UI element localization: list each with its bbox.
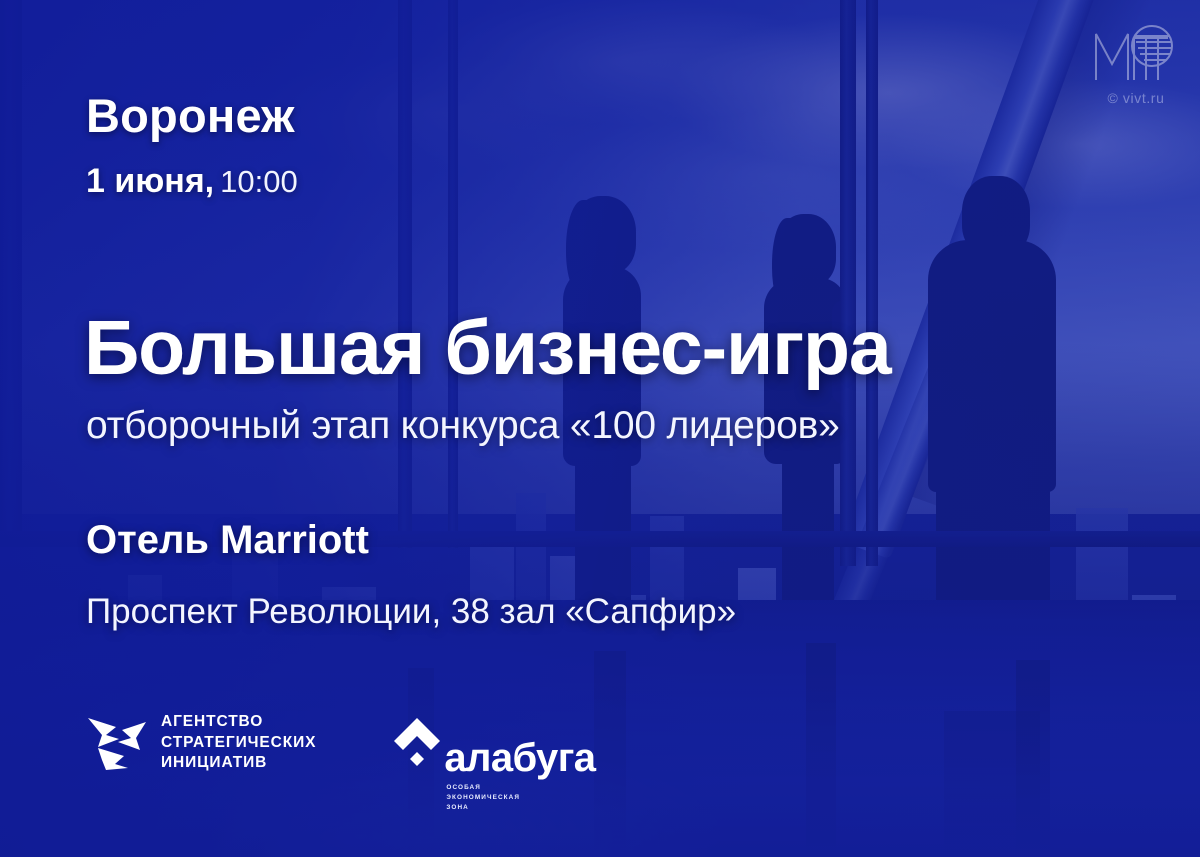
asi-line-1: АГЕНТСТВО bbox=[161, 712, 316, 733]
alabuga-sub-3: ЗОНА bbox=[446, 803, 595, 813]
alabuga-title: алабуга bbox=[444, 740, 595, 776]
poster-content: Воронеж 1 июня,10:00 Большая бизнес-игра… bbox=[0, 0, 1200, 857]
venue-address: Проспект Революции, 38 зал «Сапфир» bbox=[86, 594, 736, 629]
alabuga-sub-2: ЭКОНОМИЧЕСКАЯ bbox=[446, 793, 595, 803]
event-poster: Воронеж 1 июня,10:00 Большая бизнес-игра… bbox=[0, 0, 1200, 857]
asi-line-2: СТРАТЕГИЧЕСКИХ bbox=[161, 733, 316, 754]
asi-arrow-icon bbox=[86, 714, 148, 772]
alabuga-wordmark: алабуга ОСОБАЯ ЭКОНОМИЧЕСКАЯ ЗОНА bbox=[444, 740, 595, 813]
alabuga-subtitle: ОСОБАЯ ЭКОНОМИЧЕСКАЯ ЗОНА bbox=[446, 783, 595, 813]
watermark-url: © vivt.ru bbox=[1090, 90, 1182, 106]
city-name: Воронеж bbox=[86, 92, 295, 139]
venue-name: Отель Marriott bbox=[86, 520, 369, 560]
logo-row: АГЕНТСТВО СТРАТЕГИЧЕСКИХ ИНИЦИАТИВ алабу… bbox=[86, 712, 595, 813]
event-date: 1 июня, bbox=[86, 162, 214, 200]
asi-line-3: ИНИЦИАТИВ bbox=[161, 753, 316, 774]
alabuga-sub-1: ОСОБАЯ bbox=[446, 783, 595, 793]
asi-logo-text: АГЕНТСТВО СТРАТЕГИЧЕСКИХ ИНИЦИАТИВ bbox=[161, 712, 316, 774]
watermark: © vivt.ru bbox=[1090, 24, 1182, 106]
mt-monogram-icon bbox=[1090, 24, 1182, 84]
event-datetime: 1 июня,10:00 bbox=[86, 164, 298, 198]
event-time: 10:00 bbox=[220, 164, 298, 199]
asi-logo: АГЕНТСТВО СТРАТЕГИЧЕСКИХ ИНИЦИАТИВ bbox=[86, 712, 316, 774]
alabuga-chevron-icon bbox=[392, 714, 442, 772]
alabuga-logo: алабуга ОСОБАЯ ЭКОНОМИЧЕСКАЯ ЗОНА bbox=[392, 712, 595, 813]
subheadline: отборочный этап конкурса «100 лидеров» bbox=[86, 406, 840, 445]
headline: Большая бизнес-игра bbox=[84, 310, 890, 387]
